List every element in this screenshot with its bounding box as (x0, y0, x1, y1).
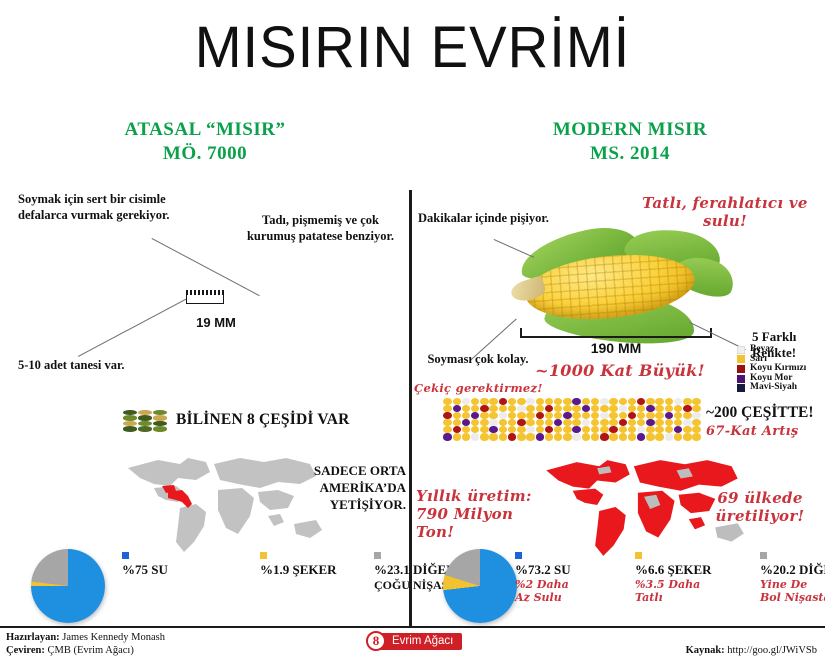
kernel-cell (674, 419, 682, 426)
kernel-cell (619, 405, 627, 412)
kernel-cell (471, 419, 479, 426)
color-legend-row: Beyaz (737, 345, 806, 355)
footer-prepared-value: James Kennedy Monash (62, 632, 165, 643)
kernel-cell (508, 419, 516, 426)
kernel-cell (536, 412, 544, 419)
kernel-cell (665, 433, 673, 440)
kernel-strip-row (443, 398, 701, 405)
kernel-strip-row (443, 405, 701, 412)
kernel-cell (646, 426, 654, 433)
kernel-cell (462, 405, 470, 412)
kernel-cell (572, 412, 580, 419)
kernel-cell (646, 419, 654, 426)
kernel-cell (692, 426, 700, 433)
ancient-kernel-cell (123, 415, 137, 420)
modern-varieties-note: 67-Kat Artış (706, 423, 825, 441)
kernel-cell (619, 419, 627, 426)
kernel-cell (582, 426, 590, 433)
modern-hammer-note: Çekiç gerektirmez! (414, 382, 544, 395)
kernel-cell (563, 412, 571, 419)
kernel-cell (674, 412, 682, 419)
footer-translated-value: ÇMB (Evrim Ağacı) (48, 645, 134, 656)
modern-countries-note: 69 ülkede üretiliyor! (700, 489, 820, 525)
kernel-cell (554, 405, 562, 412)
kernel-cell (637, 426, 645, 433)
pie-legend-item: %6.6 ŞEKER%3.5 DahaTatlı (635, 552, 712, 604)
kernel-strip-row (443, 433, 701, 440)
kernel-cell (563, 405, 571, 412)
kernel-cell (683, 426, 691, 433)
pie-legend-swatch (635, 552, 642, 559)
kernel-cell (591, 433, 599, 440)
pie-legend-swatch (760, 552, 767, 559)
kernel-cell (600, 405, 608, 412)
kernel-cell (453, 419, 461, 426)
ancient-region-note: SADECE ORTA AMERİKA’DA YETİŞİYOR. (288, 462, 406, 513)
kernel-cell (609, 419, 617, 426)
pie-legend-swatch (515, 552, 522, 559)
kernel-cell (683, 419, 691, 426)
kernel-cell (536, 433, 544, 440)
kernel-cell (683, 405, 691, 412)
pie-legend-note: %3.5 DahaTatlı (635, 578, 712, 604)
kernel-cell (609, 398, 617, 405)
pie-legend-item: %1.9 ŞEKER (260, 552, 337, 578)
footer-source-label: Kaynak: (686, 645, 725, 656)
kernel-cell (489, 405, 497, 412)
kernel-cell (453, 433, 461, 440)
kernel-cell (443, 433, 451, 440)
kernel-cell (480, 419, 488, 426)
kernel-cell (462, 419, 470, 426)
kernel-cell (499, 433, 507, 440)
kernel-cell (480, 426, 488, 433)
kernel-cell (646, 398, 654, 405)
brand-logo[interactable]: 8 Evrim Ağacı (366, 631, 462, 651)
modern-sweet-note: Tatlı, ferahlatıcı ve sulu! (630, 194, 820, 230)
kernel-cell (572, 426, 580, 433)
kernel-strip-row (443, 426, 701, 433)
ancient-varieties-heading: BİLİNEN 8 ÇEŞİDİ VAR (176, 411, 350, 429)
kernel-cell (471, 398, 479, 405)
kernel-cell (582, 419, 590, 426)
kernel-cell (563, 398, 571, 405)
kernel-cell (517, 398, 525, 405)
right-column-date: MS. 2014 (510, 142, 750, 166)
kernel-cell (471, 433, 479, 440)
kernel-cell (462, 398, 470, 405)
pie-legend-label: %1.9 ŞEKER (260, 562, 337, 578)
kernel-cell (628, 433, 636, 440)
kernel-cell (499, 412, 507, 419)
kernel-cell (655, 405, 663, 412)
ancient-kernel-icon (122, 410, 168, 432)
kernel-cell (554, 412, 562, 419)
page-title: MISIRIN EVRİMİ (12, 14, 812, 81)
kernel-cell (665, 405, 673, 412)
leader-line-kernels (78, 293, 198, 357)
kernel-cell (508, 398, 516, 405)
kernel-cell (655, 412, 663, 419)
color-legend-swatch (737, 375, 745, 383)
kernel-cell (591, 419, 599, 426)
kernel-cell (453, 405, 461, 412)
ancient-kernel-cell (153, 426, 167, 431)
kernel-cell (637, 419, 645, 426)
kernel-cell (462, 426, 470, 433)
kernel-cell (471, 426, 479, 433)
footer-translated-line: Çeviren: ÇMB (Evrim Ağacı) (6, 644, 165, 657)
modern-varieties-heading: ~200 ÇEŞİTTE! (706, 405, 825, 421)
kernel-cell (674, 426, 682, 433)
footer-prepared-line: Hazırlayan: James Kennedy Monash (6, 631, 165, 644)
kernel-cell (646, 405, 654, 412)
kernel-cell (600, 433, 608, 440)
kernel-cell (526, 419, 534, 426)
kernel-cell (600, 398, 608, 405)
infographic-page: MISIRIN EVRİMİ ATASAL “MISIR” MÖ. 7000 M… (0, 0, 825, 663)
kernel-cell (683, 398, 691, 405)
modern-composition-pie (443, 549, 517, 623)
pie-legend-label: %75 SU (122, 562, 168, 578)
kernel-cell (499, 419, 507, 426)
kernel-cell (655, 433, 663, 440)
kernel-cell (591, 398, 599, 405)
kernel-cell (489, 398, 497, 405)
footer-source[interactable]: Kaynak: http://goo.gl/JWiVSb (686, 645, 817, 656)
modern-production-note: Yıllık üretim: 790 Milyon Ton! (416, 487, 546, 541)
kernel-cell (526, 412, 534, 419)
kernel-cell (591, 412, 599, 419)
color-legend-swatch (737, 384, 745, 392)
ancient-kernel-count-note: 5-10 adet tanesi var. (18, 358, 218, 374)
pie-legend-item: %73.2 SU%2 DahaAz Sulu (515, 552, 571, 604)
kernel-cell (508, 433, 516, 440)
kernel-cell (665, 412, 673, 419)
kernel-cell (591, 426, 599, 433)
modern-cook-note: Dakikalar içinde pişiyor. (418, 211, 558, 227)
kernel-cell (572, 433, 580, 440)
kernel-cell (609, 426, 617, 433)
kernel-cell (517, 412, 525, 419)
kernel-cell (471, 405, 479, 412)
kernel-cell (563, 433, 571, 440)
kernel-cell (692, 412, 700, 419)
kernel-strip-row (443, 412, 701, 419)
ancient-kernel-row (122, 426, 168, 431)
modern-color-legend: BeyazSarıKoyu KırmızıKoyu MorMavi-Siyah (737, 345, 806, 393)
kernel-cell (443, 412, 451, 419)
kernel-cell (480, 433, 488, 440)
kernel-cell (646, 412, 654, 419)
footer-divider (0, 626, 825, 628)
kernel-cell (554, 433, 562, 440)
ancient-kernel-row (122, 415, 168, 420)
kernel-cell (545, 398, 553, 405)
kernel-cell (683, 412, 691, 419)
kernel-cell (692, 405, 700, 412)
color-legend-swatch (737, 355, 745, 363)
kernel-cell (674, 405, 682, 412)
kernel-cell (480, 405, 488, 412)
kernel-cell (609, 412, 617, 419)
modern-size-bracket (520, 328, 712, 338)
color-legend-row: Mavi-Siyah (737, 383, 806, 393)
kernel-cell (536, 419, 544, 426)
pie-legend-item: %20.2 DİĞERYine DeBol Nişasta! (760, 552, 825, 604)
ancient-taste-note: Tadı, pişmemiş ve çok kurumuş patatese b… (238, 213, 403, 244)
kernel-cell (471, 412, 479, 419)
kernel-cell (637, 398, 645, 405)
kernel-cell (655, 398, 663, 405)
kernel-cell (526, 426, 534, 433)
kernel-cell (692, 419, 700, 426)
color-legend-swatch (737, 365, 745, 373)
kernel-cell (462, 412, 470, 419)
kernel-cell (536, 405, 544, 412)
kernel-cell (563, 426, 571, 433)
pie-legend-swatch (374, 552, 381, 559)
pie-legend-label: %20.2 DİĞER (760, 562, 825, 578)
ancient-cob-illustration (186, 295, 224, 304)
kernel-cell (545, 433, 553, 440)
kernel-cell (545, 412, 553, 419)
kernel-cell (572, 419, 580, 426)
ancient-kernel-cell (138, 415, 152, 420)
brand-logo-icon: 8 (366, 631, 386, 651)
kernel-cell (563, 419, 571, 426)
kernel-cell (637, 412, 645, 419)
kernel-cell (480, 398, 488, 405)
kernel-cell (545, 405, 553, 412)
kernel-cell (582, 405, 590, 412)
kernel-cell (582, 412, 590, 419)
ancient-cob-kernels (186, 290, 224, 295)
kernel-cell (628, 419, 636, 426)
kernel-cell (526, 433, 534, 440)
kernel-cell (489, 426, 497, 433)
kernel-cell (517, 426, 525, 433)
kernel-cell (517, 419, 525, 426)
ancient-composition-pie (31, 549, 105, 623)
kernel-cell (526, 398, 534, 405)
kernel-cell (499, 426, 507, 433)
kernel-cell (453, 426, 461, 433)
ancient-kernel-cell (138, 426, 152, 431)
kernel-cell (443, 405, 451, 412)
kernel-cell (517, 405, 525, 412)
kernel-cell (637, 405, 645, 412)
kernel-cell (665, 419, 673, 426)
kernel-cell (628, 426, 636, 433)
kernel-cell (628, 412, 636, 419)
kernel-cell (517, 433, 525, 440)
ancient-peel-note: Soymak için sert bir cisimle defalarca v… (18, 192, 183, 223)
footer-prepared-label: Hazırlayan: (6, 632, 60, 643)
kernel-cell (665, 398, 673, 405)
kernel-cell (692, 398, 700, 405)
left-column-title: ATASAL “MISIR” (95, 118, 315, 142)
kernel-cell (619, 433, 627, 440)
kernel-cell (489, 412, 497, 419)
kernel-cell (489, 433, 497, 440)
kernel-cell (499, 405, 507, 412)
kernel-cell (619, 426, 627, 433)
left-column-date: MÖ. 7000 (95, 142, 315, 166)
color-legend-swatch (737, 346, 745, 354)
pie-legend-note: %2 DahaAz Sulu (515, 578, 571, 604)
right-column-heading: MODERN MISIR MS. 2014 (510, 118, 750, 166)
kernel-cell (536, 426, 544, 433)
kernel-strip-row (443, 419, 701, 426)
kernel-cell (628, 405, 636, 412)
kernel-cell (480, 412, 488, 419)
kernel-cell (582, 398, 590, 405)
kernel-cell (554, 398, 562, 405)
kernel-cell (443, 426, 451, 433)
kernel-cell (508, 426, 516, 433)
kernel-cell (545, 426, 553, 433)
kernel-cell (462, 433, 470, 440)
kernel-cell (554, 426, 562, 433)
kernel-cell (572, 398, 580, 405)
kernel-cell (554, 419, 562, 426)
pie-legend-swatch (122, 552, 129, 559)
kernel-cell (683, 433, 691, 440)
kernel-cell (674, 398, 682, 405)
modern-size-label: 190 MM (520, 340, 712, 356)
modern-size-note: ~1000 Kat Büyük! (535, 362, 705, 380)
kernel-cell (489, 419, 497, 426)
kernel-cell (655, 419, 663, 426)
kernel-cell (609, 405, 617, 412)
kernel-cell (600, 426, 608, 433)
footer-translated-label: Çeviren: (6, 645, 45, 656)
kernel-cell (508, 405, 516, 412)
kernel-cell (443, 398, 451, 405)
kernel-cell (674, 433, 682, 440)
kernel-cell (665, 426, 673, 433)
kernel-cell (443, 419, 451, 426)
kernel-cell (591, 405, 599, 412)
kernel-cell (692, 433, 700, 440)
left-column-heading: ATASAL “MISIR” MÖ. 7000 (95, 118, 315, 166)
kernel-cell (536, 398, 544, 405)
kernel-cell (600, 412, 608, 419)
kernel-cell (619, 398, 627, 405)
pie-legend-label: %6.6 ŞEKER (635, 562, 712, 578)
kernel-cell (600, 419, 608, 426)
kernel-cell (545, 419, 553, 426)
pie-legend-swatch (260, 552, 267, 559)
kernel-cell (499, 398, 507, 405)
kernel-cell (572, 405, 580, 412)
color-legend-label: Mavi-Siyah (750, 383, 797, 393)
kernel-cell (637, 433, 645, 440)
kernel-cell (619, 412, 627, 419)
brand-name-label: Evrim Ağacı (378, 633, 462, 650)
modern-kernel-variety-strip (443, 398, 701, 441)
right-column-title: MODERN MISIR (510, 118, 750, 142)
ancient-kernel-cell (153, 415, 167, 420)
pie-legend-item: %75 SU (122, 552, 168, 578)
pie-legend-note: Yine DeBol Nişasta! (760, 578, 825, 604)
kernel-cell (646, 433, 654, 440)
kernel-cell (655, 426, 663, 433)
kernel-cell (609, 433, 617, 440)
kernel-cell (508, 412, 516, 419)
ancient-kernel-cell (123, 426, 137, 431)
kernel-cell (582, 433, 590, 440)
pie-legend-label: %73.2 SU (515, 562, 571, 578)
ancient-size-label: 19 MM (186, 315, 246, 330)
kernel-cell (628, 398, 636, 405)
footer-credits: Hazırlayan: James Kennedy Monash Çeviren… (6, 631, 165, 657)
modern-peel-note: Soyması çok kolay. (424, 352, 532, 368)
kernel-cell (453, 398, 461, 405)
kernel-cell (453, 412, 461, 419)
footer-source-value: http://goo.gl/JWiVSb (727, 645, 817, 656)
leader-line-peel (152, 238, 260, 296)
kernel-cell (526, 405, 534, 412)
